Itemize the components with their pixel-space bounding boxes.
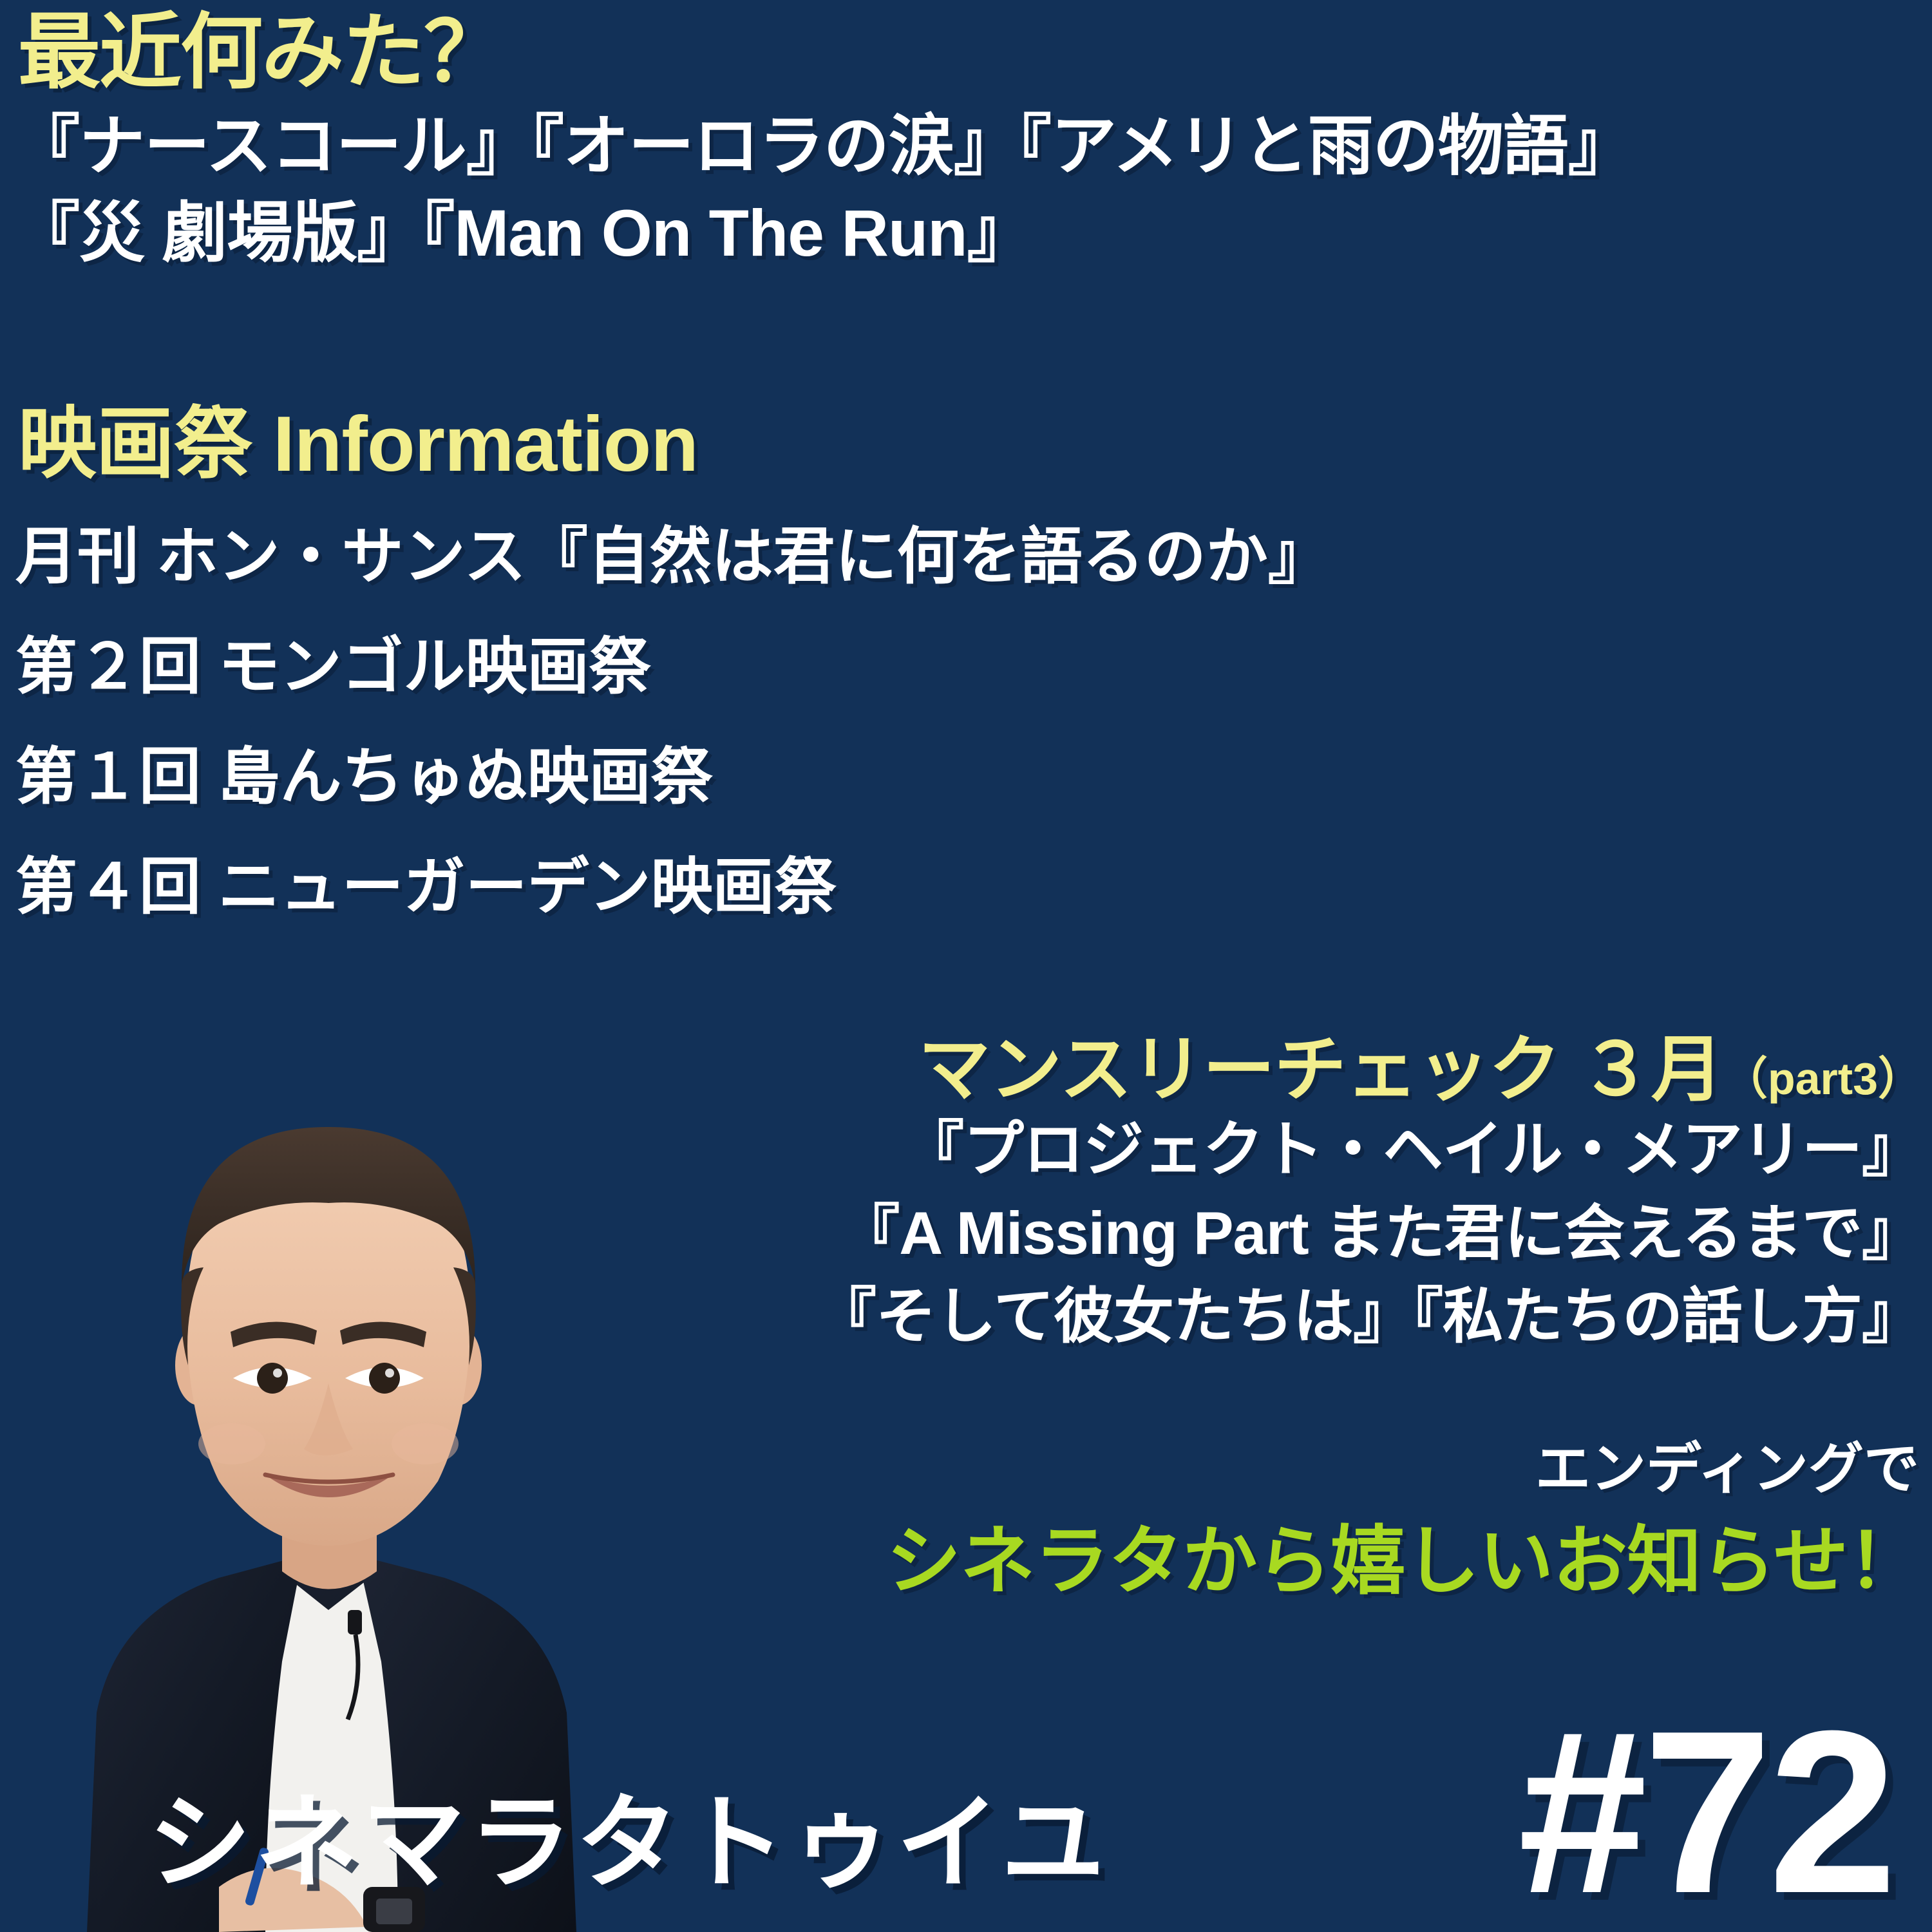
list-item: 第２回 モンゴル映画祭 (15, 612, 1330, 723)
ending-note-line2: シネラタから嬉しいお知らせ！ (886, 1501, 1922, 1609)
ending-note-line1: エンディングで (1535, 1423, 1919, 1504)
monthly-check-title: マンスリーチェック ３月 (918, 1029, 1723, 1110)
monthly-check-list: 『プロジェクト・ヘイル・メアリー』 『A Missing Part また君に会え… (816, 1108, 1922, 1358)
episode-number: #72 (1518, 1706, 1893, 1919)
program-name: シネマラタトゥイユ (148, 1759, 1108, 1909)
list-item: 『A Missing Part また君に会えるまで』 (816, 1191, 1922, 1275)
list-item: 第４回 ニューガーデン映画祭 (15, 833, 1330, 943)
recent-watch-titles: 『ナースコール』『オーロラの涙』『アメリと雨の物語』 『災 劇場版』『Man O… (14, 103, 1633, 276)
monthly-check-heading: マンスリーチェック ３月（part3） (918, 1011, 1923, 1115)
festival-info-heading: 映画祭 Information (18, 380, 698, 494)
festival-info-list: 月刊 ホン・サンス『自然は君に何を語るのか』 第２回 モンゴル映画祭 第１回 島… (15, 502, 1330, 943)
list-item: 第１回 島んちゅぬ映画祭 (15, 723, 1330, 833)
list-item: 『プロジェクト・ヘイル・メアリー』 (816, 1108, 1922, 1191)
monthly-check-part: （part3） (1723, 1054, 1923, 1104)
recent-watch-heading: 最近何みた？ (18, 6, 505, 99)
list-item: 月刊 ホン・サンス『自然は君に何を語るのか』 (15, 502, 1330, 612)
thumbnail-canvas: 最近何みた？ 『ナースコール』『オーロラの涙』『アメリと雨の物語』 『災 劇場版… (0, 0, 1932, 1932)
list-item: 『そして彼女たちは』『私たちの話し方』 (816, 1274, 1922, 1358)
